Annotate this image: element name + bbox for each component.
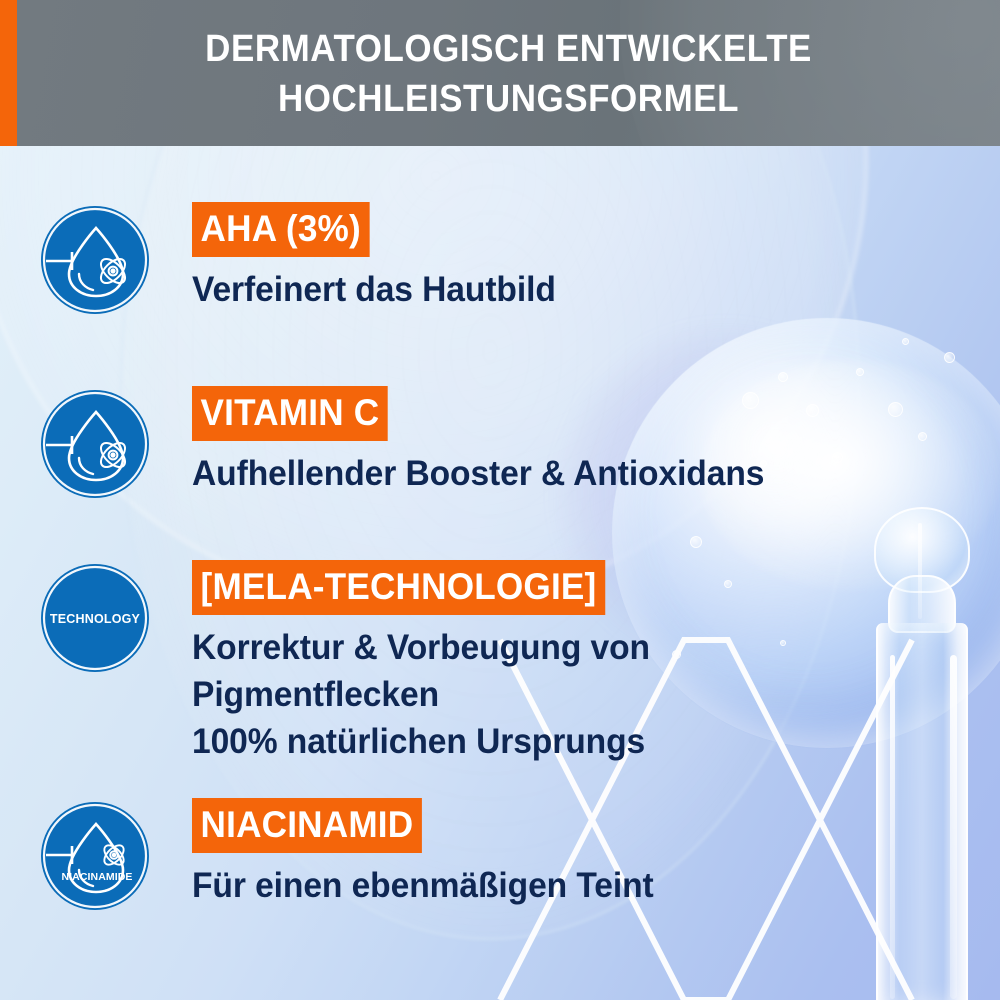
feature-list: AHA (3%) Verfeinert das Hautbild — [0, 146, 1000, 1000]
feature-text: NIACINAMID Für einen ebenmäßigen Teint — [190, 798, 1000, 909]
feature-description: Korrektur & Vorbeugung von Pigmentflecke… — [192, 624, 968, 765]
feature-description-line: Für einen ebenmäßigen Teint — [192, 862, 968, 909]
feature-item-mela-technologie: TECHNOLOGY [MELA-TECHNOLOGIE] Korrektur … — [0, 560, 1000, 765]
feature-item-niacinamid: NIACINAMIDE NIACINAMID Für einen ebenmäß… — [0, 798, 1000, 910]
feature-item-aha: AHA (3%) Verfeinert das Hautbild — [0, 202, 1000, 314]
feature-icon-wrap — [0, 202, 190, 314]
technology-icon-label: TECHNOLOGY — [50, 612, 141, 626]
droplet-niacinamide-icon: NIACINAMIDE — [41, 802, 149, 910]
feature-description-line: 100% natürlichen Ursprungs — [192, 718, 968, 765]
feature-tag: VITAMIN C — [192, 386, 388, 441]
feature-tag: NIACINAMID — [192, 798, 422, 853]
page-title-line-2: HOCHLEISTUNGSFORMEL — [56, 74, 960, 124]
feature-description-line: Aufhellender Booster & Antioxidans — [192, 450, 968, 497]
feature-tag: [MELA-TECHNOLOGIE] — [192, 560, 605, 615]
technology-badge-icon: TECHNOLOGY — [41, 564, 149, 672]
header-accent-bar — [0, 0, 17, 146]
feature-text: VITAMIN C Aufhellender Booster & Antioxi… — [190, 386, 1000, 497]
feature-item-vitamin-c: VITAMIN C Aufhellender Booster & Antioxi… — [0, 386, 1000, 498]
feature-description-line: Verfeinert das Hautbild — [192, 266, 968, 313]
feature-description-line: Korrektur & Vorbeugung von — [192, 624, 968, 671]
feature-text: AHA (3%) Verfeinert das Hautbild — [190, 202, 1000, 313]
feature-icon-wrap: NIACINAMIDE — [0, 798, 190, 910]
feature-description: Für einen ebenmäßigen Teint — [192, 862, 968, 909]
feature-icon-wrap — [0, 386, 190, 498]
feature-text: [MELA-TECHNOLOGIE] Korrektur & Vorbeugun… — [190, 560, 1000, 765]
droplet-atom-icon — [41, 206, 149, 314]
feature-description: Verfeinert das Hautbild — [192, 266, 968, 313]
niacinamide-icon-label: NIACINAMIDE — [61, 871, 132, 883]
feature-icon-wrap: TECHNOLOGY — [0, 560, 190, 672]
feature-tag: AHA (3%) — [192, 202, 369, 257]
droplet-atom-icon — [41, 390, 149, 498]
page-title-line-1: DERMATOLOGISCH ENTWICKELTE — [56, 24, 960, 74]
feature-description: Aufhellender Booster & Antioxidans — [192, 450, 968, 497]
page-title: DERMATOLOGISCH ENTWICKELTE HOCHLEISTUNGS… — [56, 24, 960, 124]
product-benefit-poster: DERMATOLOGISCH ENTWICKELTE HOCHLEISTUNGS… — [0, 0, 1000, 1000]
feature-description-line: Pigmentflecken — [192, 671, 968, 718]
